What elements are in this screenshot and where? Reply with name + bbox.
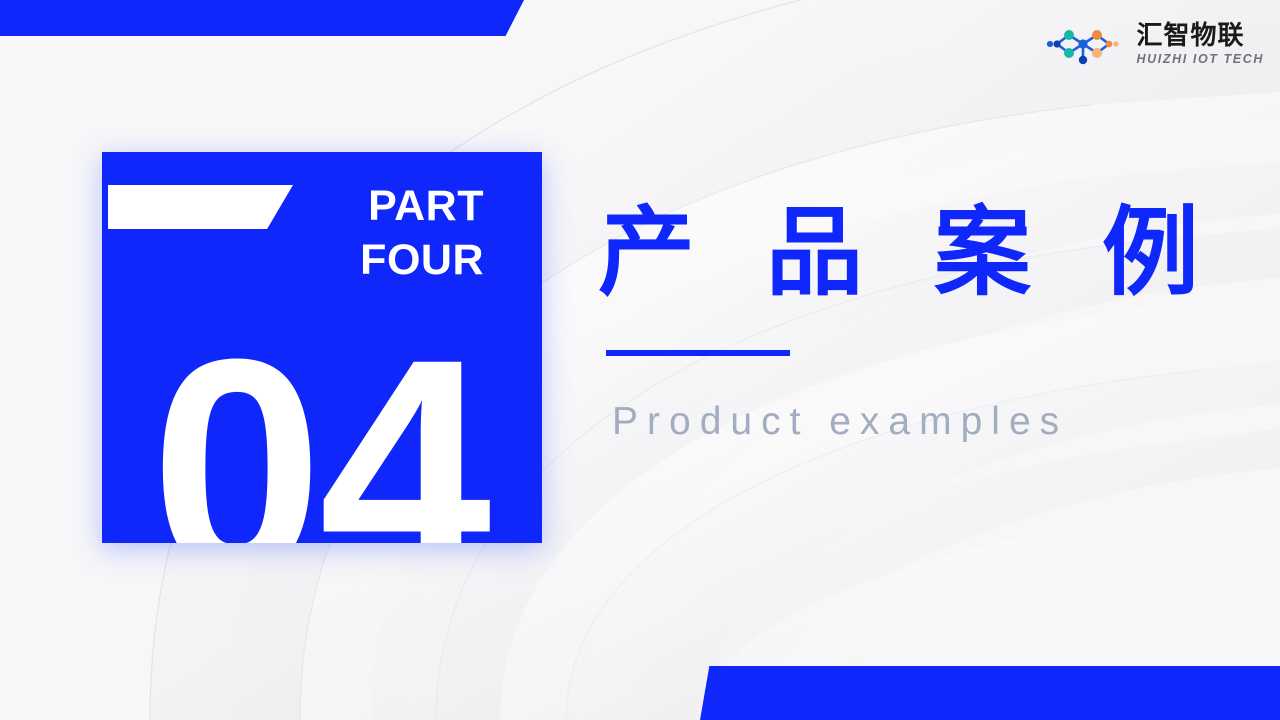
presentation-slide: PART FOUR 04 产 品 案 例 Product examples	[0, 0, 1280, 720]
section-number: 04	[102, 313, 542, 543]
part-label-line2: FOUR	[360, 233, 484, 287]
bottom-accent-banner	[700, 666, 1280, 720]
top-accent-banner	[0, 0, 524, 36]
page-title: 产 品 案 例	[598, 196, 1238, 310]
logo-name-en: HUIZHI IOT TECH	[1137, 53, 1264, 66]
molecule-network-icon	[1045, 22, 1129, 66]
section-number-card: PART FOUR 04	[102, 152, 542, 543]
card-accent-bar	[108, 185, 293, 229]
logo-name-cn: 汇智物联	[1137, 22, 1264, 48]
logo-text-block: 汇智物联 HUIZHI IOT TECH	[1137, 22, 1264, 66]
part-label-line1: PART	[360, 179, 484, 233]
page-subtitle: Product examples	[612, 400, 1238, 444]
title-underline-rule	[606, 350, 790, 356]
part-label: PART FOUR	[360, 179, 484, 287]
brand-logo: 汇智物联 HUIZHI IOT TECH	[1045, 22, 1264, 66]
section-heading-block: 产 品 案 例 Product examples	[598, 196, 1238, 444]
